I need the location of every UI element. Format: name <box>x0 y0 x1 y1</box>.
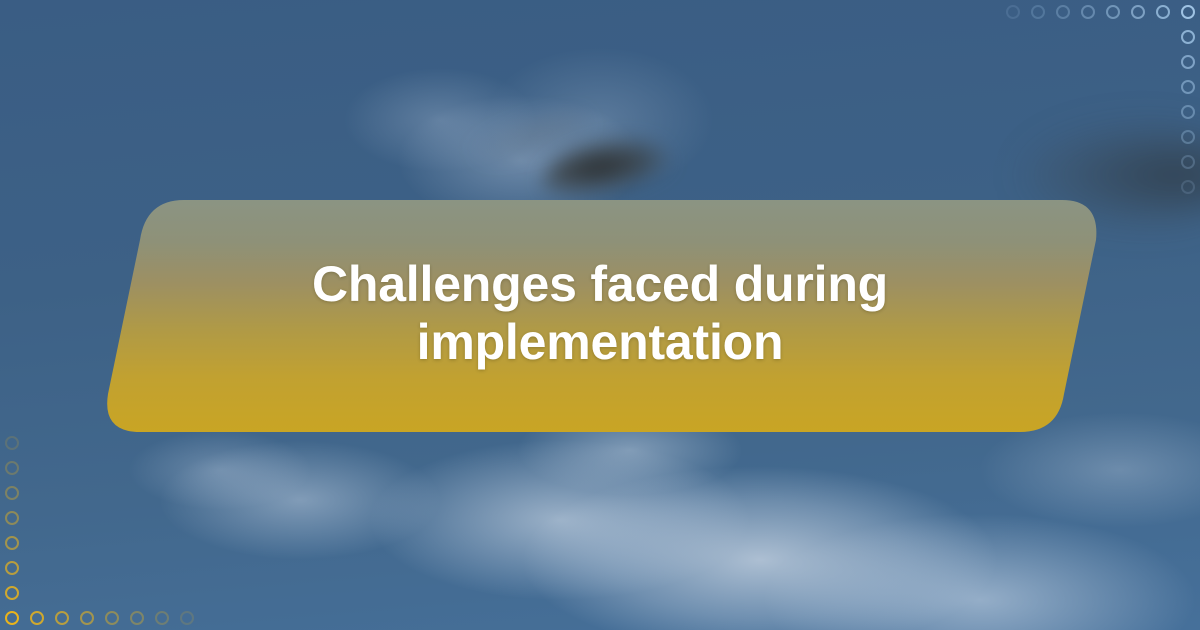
decor-ring <box>5 536 19 550</box>
decor-ring <box>1081 5 1095 19</box>
title-card: Challenges faced during implementation <box>100 198 1100 434</box>
decor-ring <box>1106 5 1120 19</box>
decor-ring <box>1181 180 1195 194</box>
page-title-line-1: Challenges faced during <box>312 256 888 312</box>
decor-ring <box>1181 5 1195 19</box>
decor-ring <box>105 611 119 625</box>
decor-ring <box>5 586 19 600</box>
title-card-content: Challenges faced during implementation <box>100 198 1100 434</box>
decor-ring <box>1056 5 1070 19</box>
decor-ring <box>5 611 19 625</box>
decor-ring <box>5 511 19 525</box>
decor-ring <box>1181 80 1195 94</box>
decor-ring <box>1131 5 1145 19</box>
decor-ring <box>1156 5 1170 19</box>
decor-ring <box>1031 5 1045 19</box>
decor-ring <box>80 611 94 625</box>
decor-ring <box>55 611 69 625</box>
page-title: Challenges faced during implementation <box>312 255 888 371</box>
decor-ring <box>155 611 169 625</box>
decor-ring <box>1181 105 1195 119</box>
decor-ring <box>1181 30 1195 44</box>
decor-ring <box>5 436 19 450</box>
decor-ring <box>130 611 144 625</box>
decor-ring <box>30 611 44 625</box>
decor-ring <box>180 611 194 625</box>
decor-ring <box>1181 130 1195 144</box>
page-title-line-2: implementation <box>417 314 784 370</box>
decor-ring <box>5 486 19 500</box>
decor-ring <box>5 561 19 575</box>
decor-ring <box>5 461 19 475</box>
decor-ring <box>1006 5 1020 19</box>
banner-canvas: Challenges faced during implementation <box>0 0 1200 630</box>
decor-ring <box>1181 155 1195 169</box>
decor-ring <box>1181 55 1195 69</box>
